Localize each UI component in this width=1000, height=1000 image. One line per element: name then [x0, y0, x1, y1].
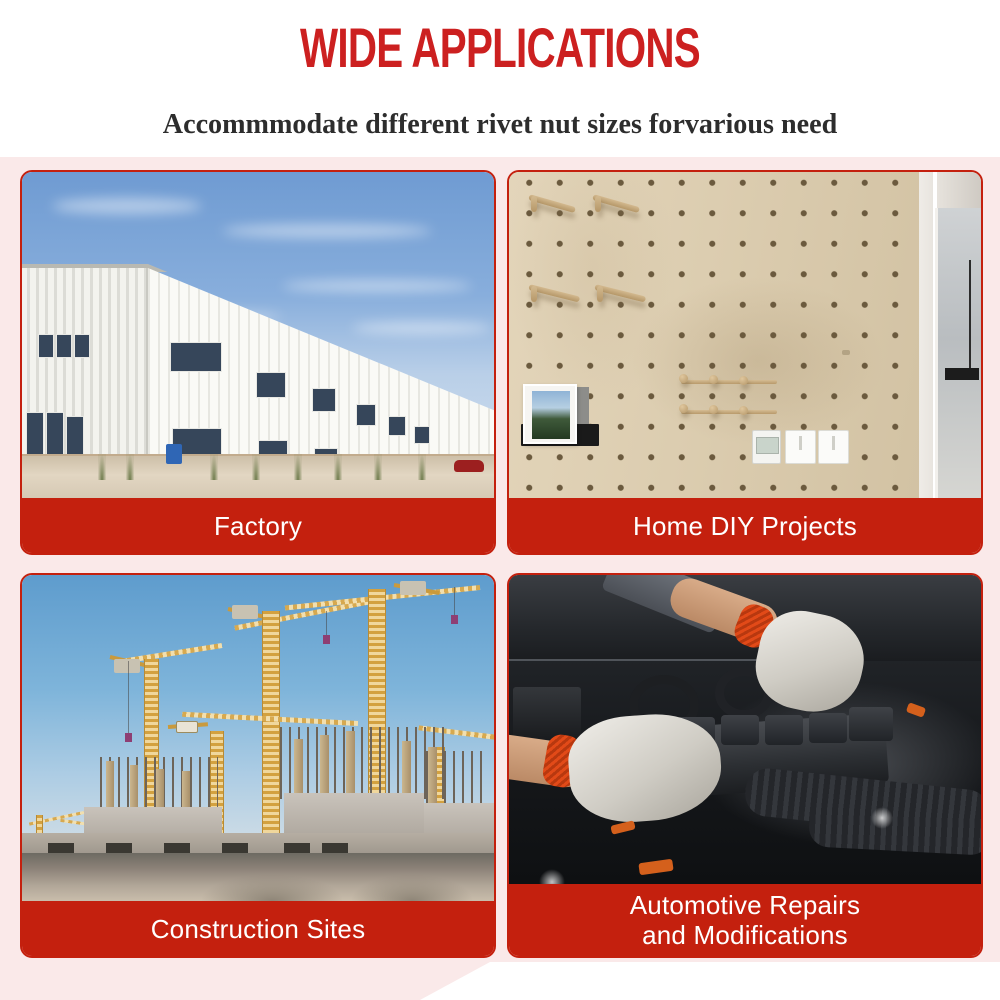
red-car [454, 460, 484, 472]
construction-site-photo [22, 575, 494, 901]
application-card-automotive[interactable]: Automotive Repairs and Modifications [507, 573, 983, 958]
page-subtitle: Accommmodate different rivet nut sizes f… [15, 106, 985, 142]
applications-grid: Factory [20, 170, 983, 958]
card-label-construction: Construction Sites [22, 901, 494, 956]
light-switch-1[interactable] [785, 430, 816, 464]
card-label-home-diy: Home DIY Projects [509, 498, 981, 553]
thermostat[interactable] [752, 430, 781, 464]
application-card-construction[interactable]: Construction Sites [20, 573, 496, 958]
picture-frame [523, 384, 577, 444]
application-card-factory[interactable]: Factory [20, 170, 496, 555]
wide-applications-banner: WIDE APPLICATIONS Accommmodate different… [0, 0, 1000, 1000]
card-label-factory: Factory [22, 498, 494, 553]
card-label-automotive: Automotive Repairs and Modifications [509, 884, 981, 956]
card-label-automotive-line1: Automotive Repairs [630, 890, 860, 920]
doorway [935, 208, 981, 498]
screw-icon [842, 350, 850, 355]
blue-road-sign [166, 444, 182, 464]
page-title: WIDE APPLICATIONS [140, 19, 860, 77]
factory-building-photo [22, 172, 494, 498]
automotive-repair-photo [509, 575, 981, 884]
light-switch-2[interactable] [818, 430, 849, 464]
pegboard-wall-photo [509, 172, 981, 498]
header: WIDE APPLICATIONS Accommmodate different… [0, 0, 1000, 157]
application-card-home-diy[interactable]: Home DIY Projects [507, 170, 983, 555]
card-label-automotive-line2: and Modifications [642, 920, 848, 950]
